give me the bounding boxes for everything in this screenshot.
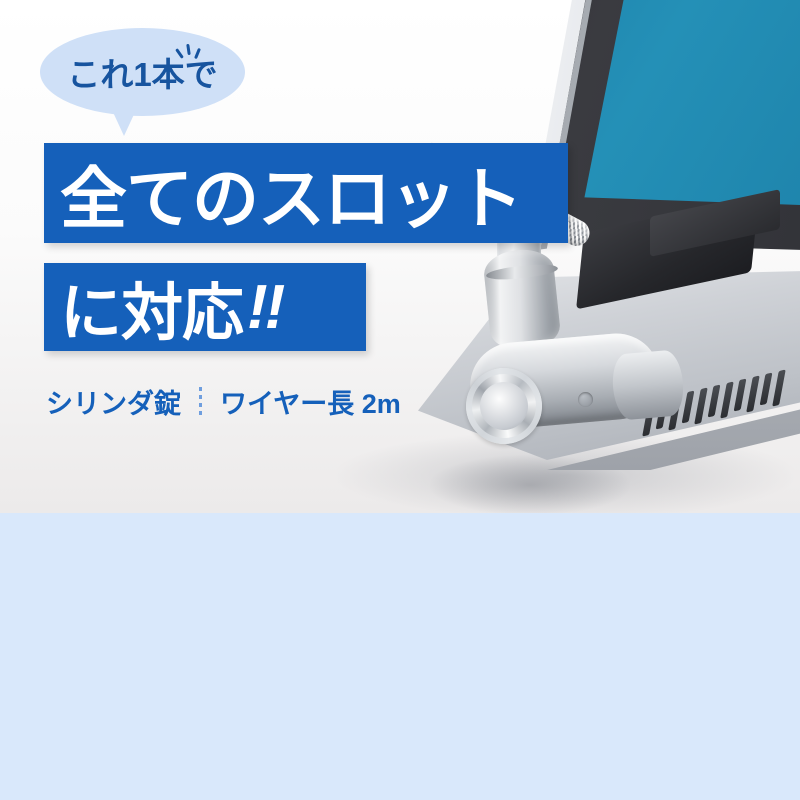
- spec-cable-length: ワイヤー長 2m: [220, 382, 401, 421]
- headline-band-secondary: に対応 !!: [44, 263, 366, 351]
- headline-line-1: 全てのスロット: [60, 145, 522, 242]
- slot-types-section: ＼3つのスロットに使える、マルチタイプ／ 1 ノーブル 4.5: [0, 513, 800, 800]
- headline-band-primary: 全てのスロット: [44, 143, 568, 243]
- lock-cylinder-face: [480, 382, 528, 430]
- spec-lock-type: シリンダ錠: [46, 382, 181, 421]
- advertisement-page: これ1本で 全てのスロット に対応 !! シリンダ錠 ワイヤー長 2m ＼3つの…: [0, 0, 800, 800]
- lock-barrel: [482, 247, 562, 354]
- spec-divider: [199, 387, 202, 417]
- headline-line-2: に対応: [60, 262, 243, 352]
- hero-section: これ1本で 全てのスロット に対応 !! シリンダ錠 ワイヤー長 2m: [0, 0, 800, 513]
- lock-pivot-dot: [578, 392, 593, 407]
- spec-line: シリンダ錠 ワイヤー長 2m: [46, 382, 401, 421]
- lock-plug: [610, 349, 685, 421]
- speech-bubble-text: これ1本で: [40, 28, 245, 116]
- laptop-photo: [380, 0, 800, 500]
- headline-exclamation: !!: [243, 272, 282, 343]
